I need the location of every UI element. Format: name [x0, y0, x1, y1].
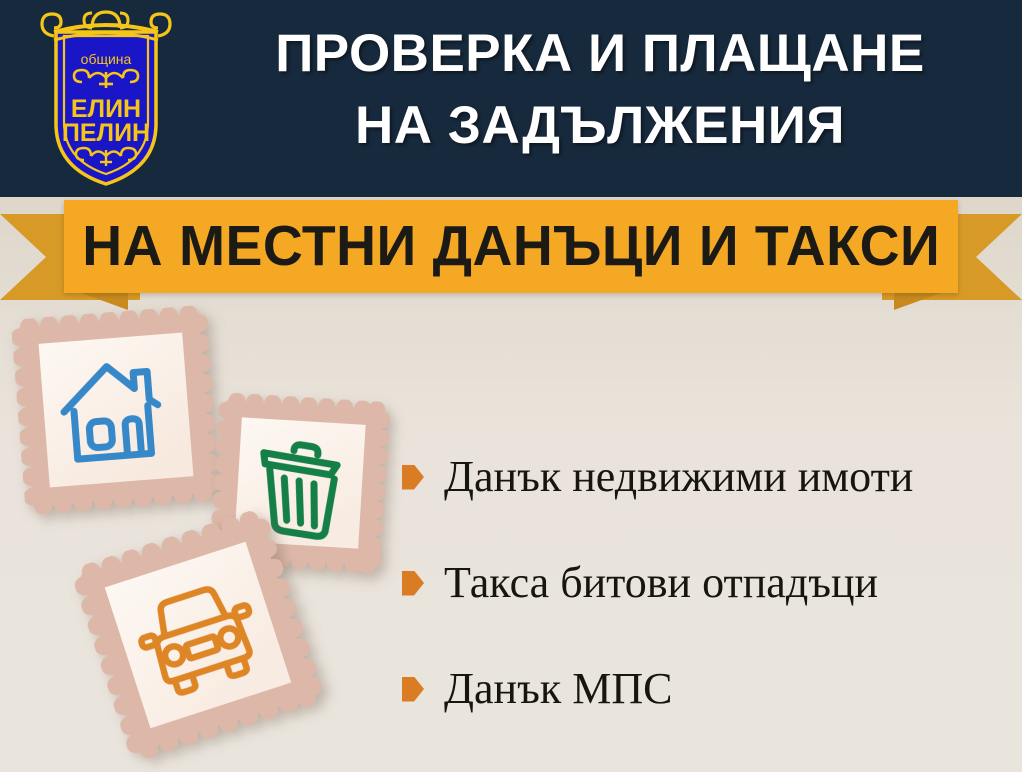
- arrow-bullet-icon: [402, 465, 424, 490]
- tax-type-list: Данък недвижими имоти Такса битови отпад…: [402, 424, 1017, 742]
- page-title-line1: ПРОВЕРКА И ПЛАЩАНЕ: [275, 24, 925, 83]
- header-bar: община ЕЛИН ПЕЛИН: [0, 0, 1022, 197]
- ribbon-label: НА МЕСТНИ ДАНЪЦИ И ТАКСИ: [82, 218, 940, 275]
- coat-of-arms-icon: община ЕЛИН ПЕЛИН: [36, 6, 176, 188]
- list-item-label: Данък недвижими имоти: [444, 452, 913, 502]
- arrow-bullet-icon: [402, 677, 424, 702]
- crest-word-top: община: [81, 51, 132, 67]
- subtitle-ribbon: НА МЕСТНИ ДАНЪЦИ И ТАКСИ: [0, 198, 1022, 310]
- crest-word-line2: ПЕЛИН: [62, 119, 150, 147]
- page-title-line2: НА ЗАДЪЛЖЕНИЯ: [190, 90, 1010, 162]
- page-title: ПРОВЕРКА И ПЛАЩАНЕ НА ЗАДЪЛЖЕНИЯ: [190, 18, 1010, 162]
- list-item-label: Такса битови отпадъци: [444, 558, 878, 608]
- ribbon-banner: НА МЕСТНИ ДАНЪЦИ И ТАКСИ: [64, 200, 958, 293]
- stamp-card-house: [11, 305, 222, 516]
- list-item[interactable]: Такса битови отпадъци: [402, 530, 1017, 636]
- arrow-bullet-icon: [402, 571, 424, 596]
- poster-root: община ЕЛИН ПЕЛИН: [0, 0, 1022, 772]
- list-item[interactable]: Данък недвижими имоти: [402, 424, 1017, 530]
- list-item-label: Данък МПС: [444, 664, 672, 714]
- list-item[interactable]: Данък МПС: [402, 636, 1017, 742]
